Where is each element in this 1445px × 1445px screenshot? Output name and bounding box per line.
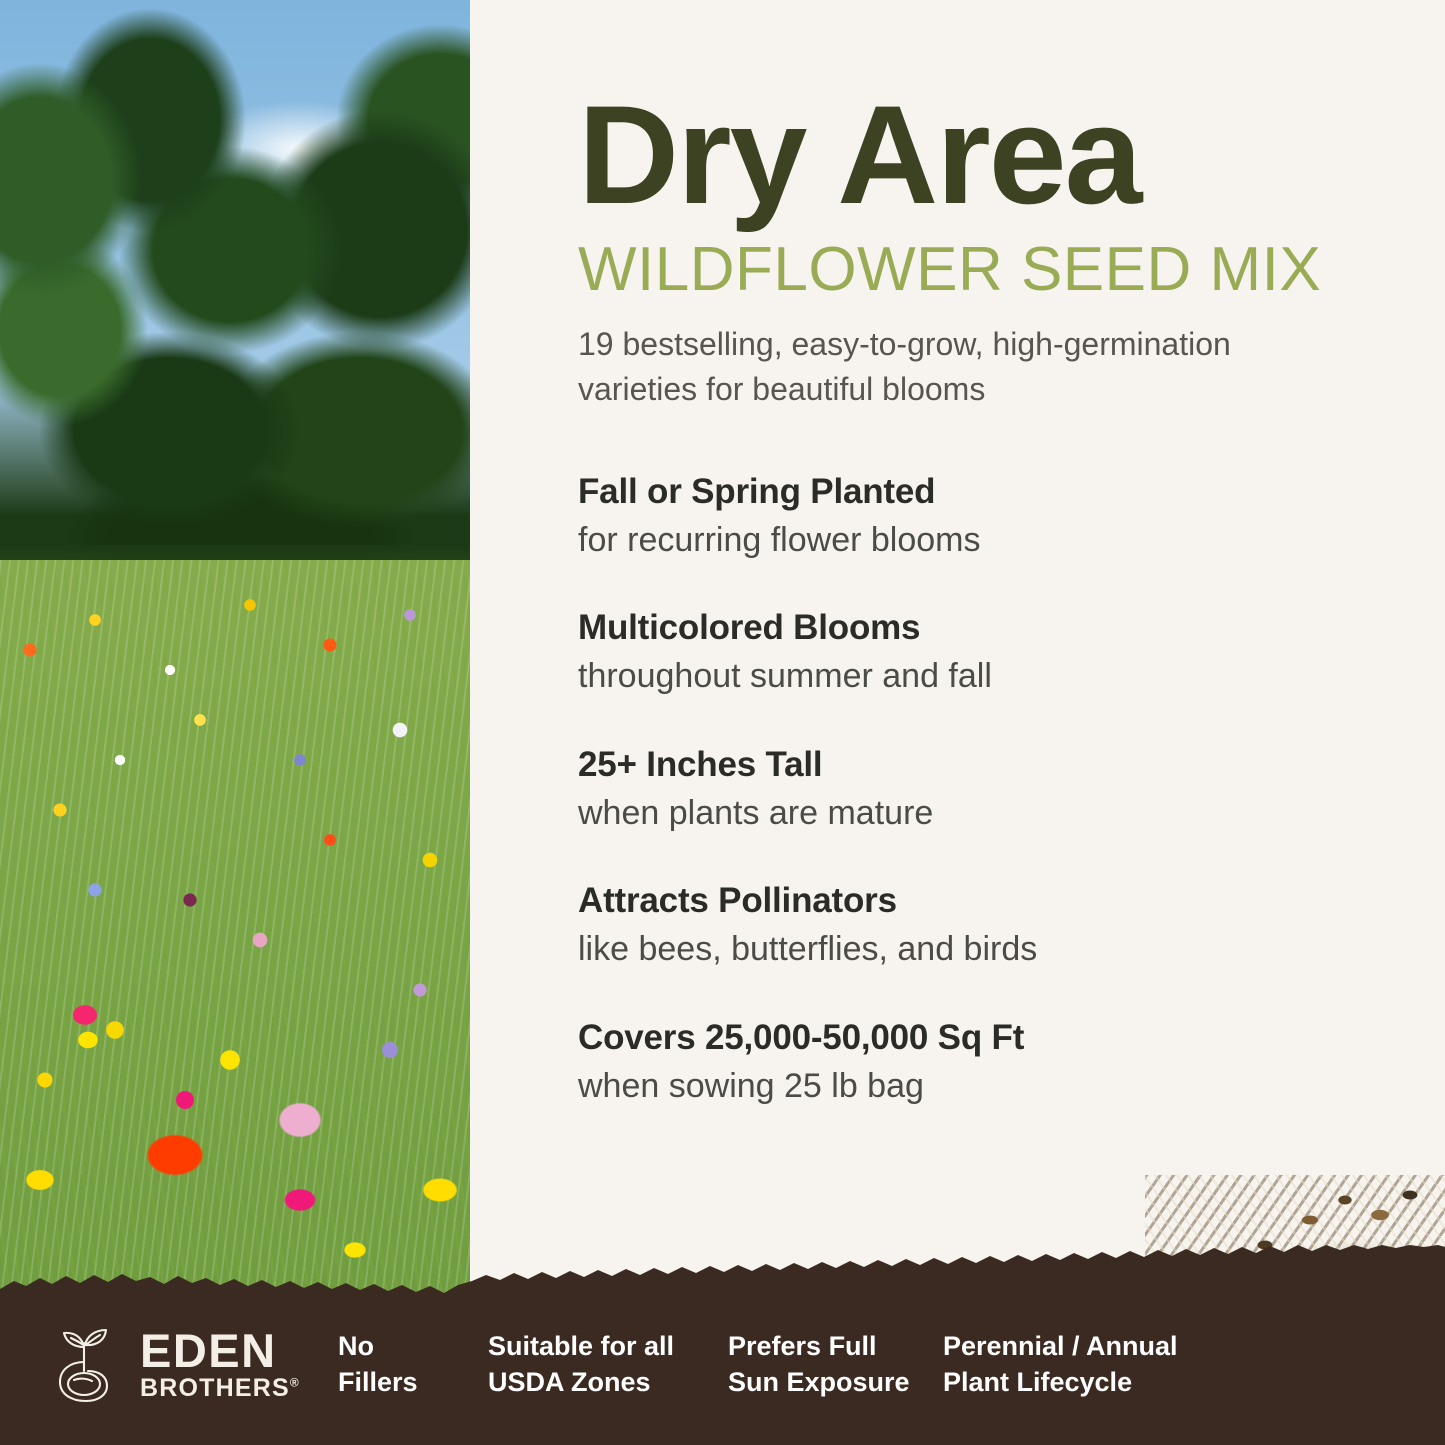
footer-feature-list: No Fillers Suitable for all USDA Zones P… bbox=[338, 1329, 1445, 1400]
footer-item-line1: Suitable for all bbox=[488, 1329, 728, 1365]
wildflower-meadow-photo bbox=[0, 0, 472, 1320]
photo-divider bbox=[470, 0, 473, 1320]
feature-list: Fall or Spring Planted for recurring flo… bbox=[578, 471, 1378, 1108]
feature-subtext: when sowing 25 lb bag bbox=[578, 1065, 1378, 1108]
product-description: 19 bestselling, easy-to-grow, high-germi… bbox=[578, 322, 1318, 413]
sprout-seed-icon bbox=[48, 1325, 126, 1405]
tree-line bbox=[0, 0, 472, 600]
eden-brothers-logo[interactable]: EDEN BROTHERS® bbox=[48, 1325, 338, 1405]
feature-title: Covers 25,000-50,000 Sq Ft bbox=[578, 1017, 1378, 1059]
footer-item-sun-exposure: Prefers Full Sun Exposure bbox=[728, 1329, 943, 1400]
logo-brothers-text: BROTHERS® bbox=[140, 1376, 300, 1401]
product-details: Dry Area WILDFLOWER SEED MIX 19 bestsell… bbox=[578, 0, 1378, 1153]
footer-item-line2: USDA Zones bbox=[488, 1365, 728, 1401]
logo-wordmark: EDEN BROTHERS® bbox=[140, 1329, 300, 1402]
page-title: Dry Area bbox=[578, 0, 1378, 222]
registered-trademark-icon: ® bbox=[290, 1376, 300, 1390]
wildflower-meadow bbox=[0, 560, 472, 1320]
feature-item: Covers 25,000-50,000 Sq Ft when sowing 2… bbox=[578, 1017, 1378, 1108]
footer-content: EDEN BROTHERS® No Fillers Suitable for a… bbox=[0, 1285, 1445, 1445]
feature-item: Multicolored Blooms throughout summer an… bbox=[578, 607, 1378, 698]
feature-item: Fall or Spring Planted for recurring flo… bbox=[578, 471, 1378, 562]
product-infographic: Dry Area WILDFLOWER SEED MIX 19 bestsell… bbox=[0, 0, 1445, 1445]
footer-item-line2: Fillers bbox=[338, 1365, 488, 1401]
feature-subtext: throughout summer and fall bbox=[578, 655, 1378, 698]
logo-brothers-label: BROTHERS bbox=[140, 1374, 290, 1402]
footer-item-line1: No bbox=[338, 1329, 488, 1365]
footer-item-line2: Sun Exposure bbox=[728, 1365, 943, 1401]
feature-title: Attracts Pollinators bbox=[578, 880, 1378, 922]
feature-subtext: for recurring flower blooms bbox=[578, 519, 1378, 562]
footer-item-plant-lifecycle: Perennial / Annual Plant Lifecycle bbox=[943, 1329, 1233, 1400]
footer-bar: EDEN BROTHERS® No Fillers Suitable for a… bbox=[0, 1245, 1445, 1445]
footer-item-no-fillers: No Fillers bbox=[338, 1329, 488, 1400]
product-subtitle: WILDFLOWER SEED MIX bbox=[578, 238, 1378, 301]
footer-item-line2: Plant Lifecycle bbox=[943, 1365, 1233, 1401]
feature-subtext: like bees, butterflies, and birds bbox=[578, 928, 1378, 971]
feature-item: Attracts Pollinators like bees, butterfl… bbox=[578, 880, 1378, 971]
feature-title: Fall or Spring Planted bbox=[578, 471, 1378, 513]
feature-title: 25+ Inches Tall bbox=[578, 744, 1378, 786]
footer-item-line1: Prefers Full bbox=[728, 1329, 943, 1365]
footer-item-usda-zones: Suitable for all USDA Zones bbox=[488, 1329, 728, 1400]
logo-eden-text: EDEN bbox=[140, 1329, 300, 1374]
feature-item: 25+ Inches Tall when plants are mature bbox=[578, 744, 1378, 835]
footer-item-line1: Perennial / Annual bbox=[943, 1329, 1233, 1365]
feature-title: Multicolored Blooms bbox=[578, 607, 1378, 649]
feature-subtext: when plants are mature bbox=[578, 792, 1378, 835]
